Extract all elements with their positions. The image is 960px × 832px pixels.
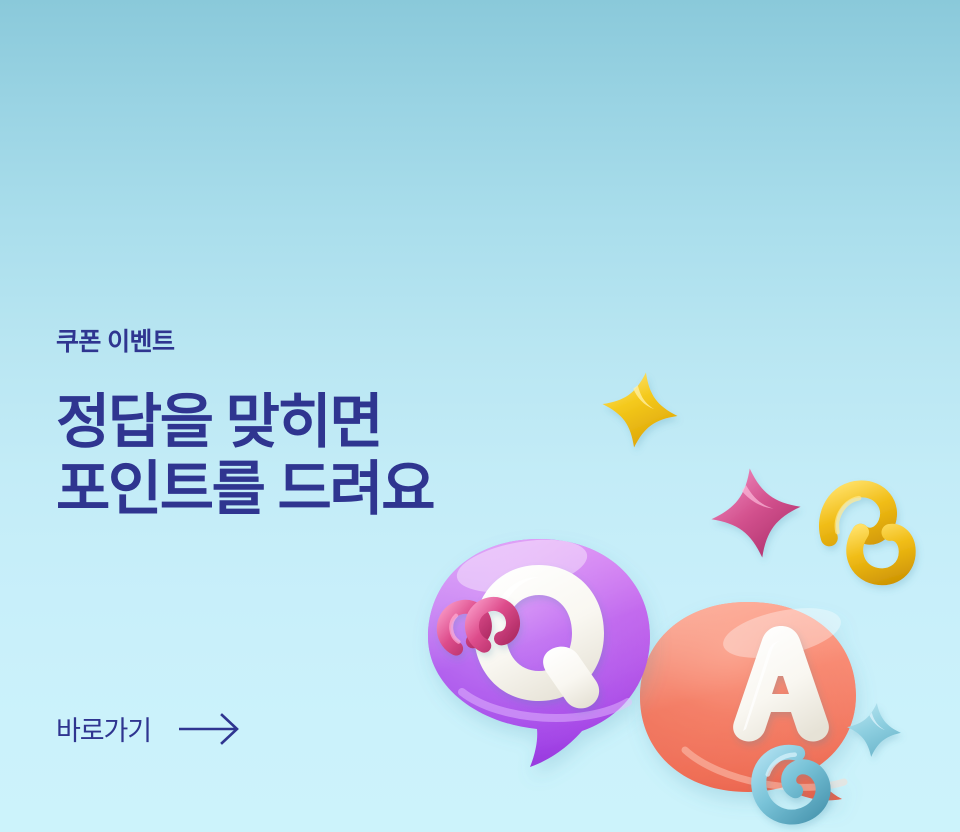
yellow-sparkle	[597, 367, 684, 454]
arrow-right-icon	[179, 712, 241, 751]
cta-label: 바로가기	[56, 718, 151, 745]
promo-banner: 쿠폰 이벤트 정답을 맞히면 포인트를 드려요 바로가기	[0, 0, 960, 832]
cta-link[interactable]: 바로가기	[56, 712, 241, 751]
pink-sparkle	[705, 462, 807, 564]
qa-speech-bubbles-illustration	[400, 350, 960, 832]
yellow-squiggle	[815, 480, 923, 583]
